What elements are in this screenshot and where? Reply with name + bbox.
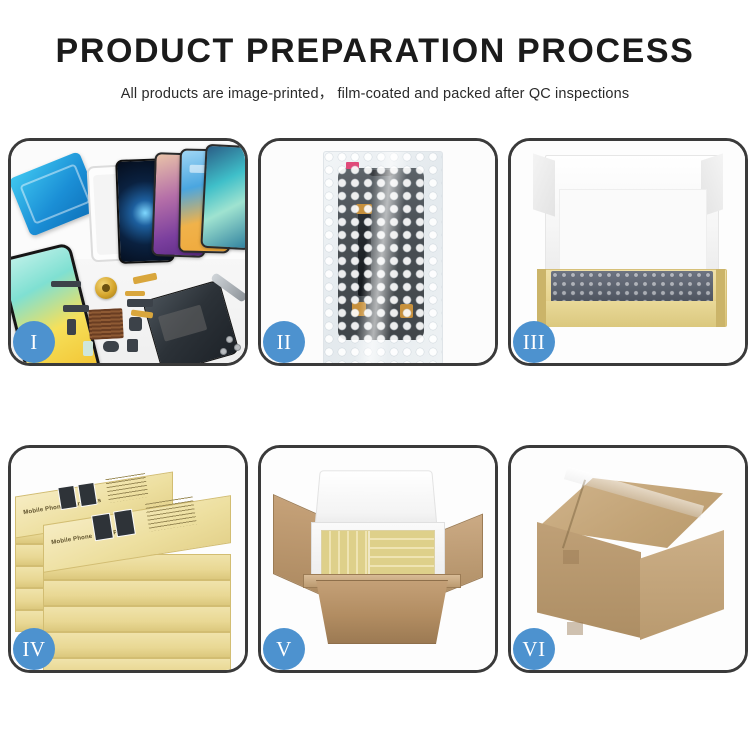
flex-cable-icon [125,291,145,296]
process-step-panel-1[interactable]: I [8,138,248,366]
phone-screen-teal-icon [200,144,245,250]
spare-part-icon [127,299,153,307]
spare-part-icon [103,341,119,352]
page-subtitle: All products are image-printed， film-coa… [0,82,750,103]
speaker-coil-icon [95,277,117,299]
step-badge-3: III [513,321,555,363]
packed-boxes-group [321,530,435,578]
packed-boxes-vertical [322,531,368,577]
grey-foam-padding-icon [551,271,713,303]
page-title: PRODUCT PREPARATION PROCESS [0,34,750,70]
lid-flap-left [533,153,555,216]
process-steps-grid: I II [0,138,750,673]
tray-edge-right [716,269,725,327]
tray-front-face [537,301,725,327]
carton-patch [567,622,583,635]
process-step-panel-2[interactable]: II [258,138,498,366]
spare-part-icon [67,319,76,335]
spare-part-icon [83,341,93,356]
kraft-box-side [43,658,231,670]
box-product-thumbnail [77,482,97,507]
step-badge-2: II [263,321,305,363]
chip-grid-icon [88,308,124,340]
box-product-thumbnail [57,485,77,510]
step-badge-4: IV [13,628,55,670]
step-badge-5: V [263,628,305,670]
step-badge-6: VI [513,628,555,670]
spare-part-icon [129,317,142,331]
kraft-box-side [43,606,231,632]
screw-icon [221,349,226,354]
box-product-thumbnail [113,509,136,538]
process-step-panel-5[interactable]: V [258,445,498,673]
box-product-thumbnail [91,513,114,542]
screw-icon [235,345,240,350]
lid-inner-panel [559,189,707,277]
screw-icon [227,337,232,342]
spare-part-icon [51,281,81,287]
tray-edge-left [537,269,546,327]
spare-part-icon [127,339,138,352]
process-step-panel-6[interactable]: VI [508,445,748,673]
kraft-box-side [43,632,231,658]
page-header: PRODUCT PREPARATION PROCESS All products… [0,0,750,103]
packed-boxes-horizontal [370,531,434,577]
process-step-panel-3[interactable]: III [508,138,748,366]
kraft-box-side [43,580,231,606]
spare-part-icon [63,305,89,312]
shipping-carton-icon [307,580,457,644]
carton-patch [563,550,579,564]
bubble-wrap-bag-icon [323,151,443,363]
step-badge-1: I [13,321,55,363]
process-step-panel-4[interactable]: Mobile Phone Spare Parts Mobile Phone Sp… [8,445,248,673]
